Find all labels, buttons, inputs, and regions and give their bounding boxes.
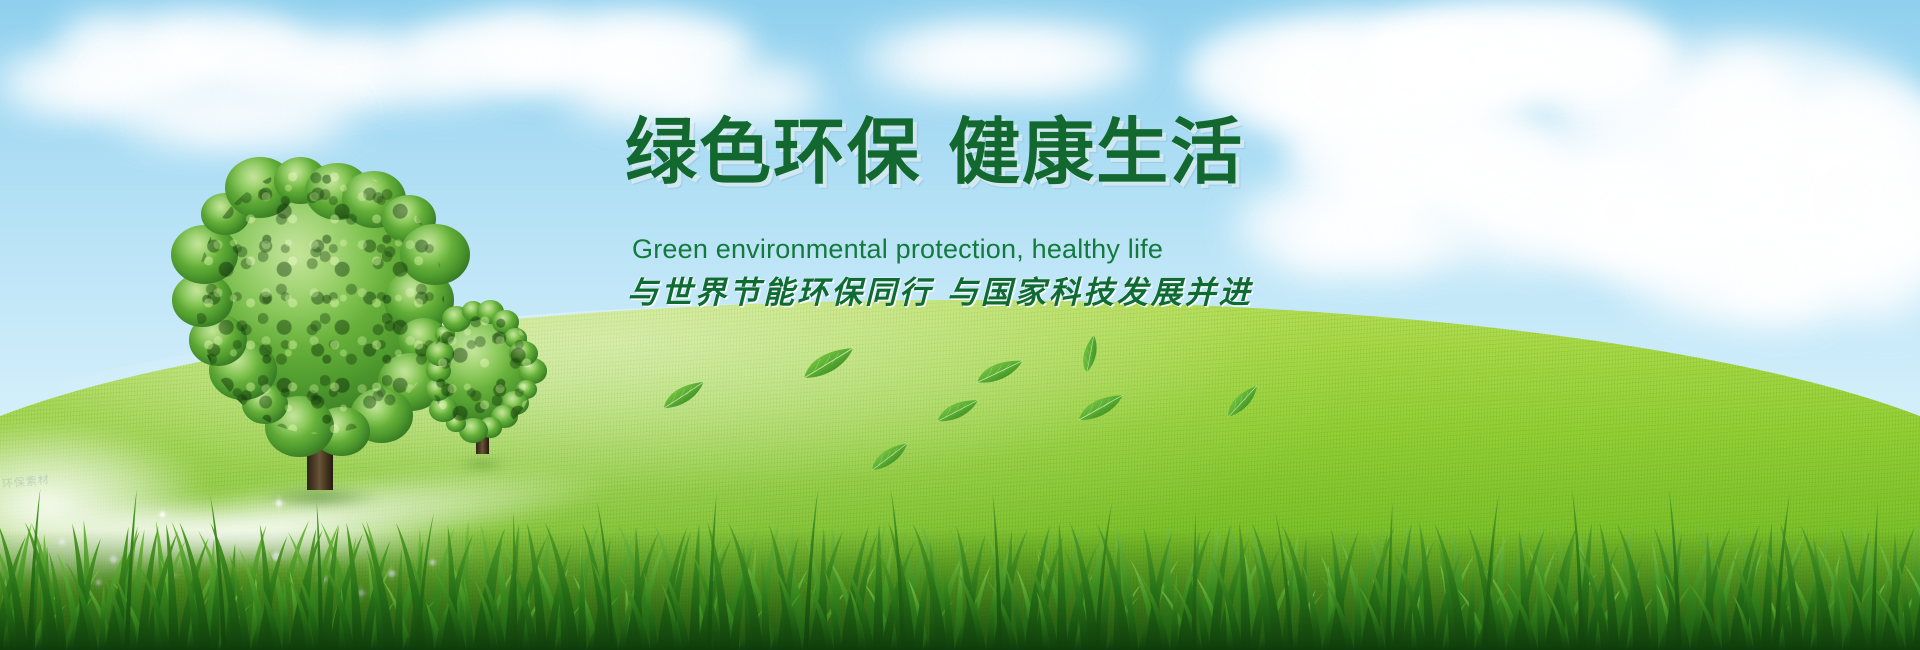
large-tree-foliage-highlight (196, 166, 444, 434)
small-tree (430, 310, 534, 468)
cloud-4-lobe-4 (726, 72, 820, 119)
grass-blades-icon (0, 470, 1920, 650)
cloud-13-lobe-4 (1364, 221, 1480, 269)
grass-blade (1761, 522, 1773, 650)
cloud-14-lobe-4 (997, 35, 1140, 87)
grass-blade (689, 524, 700, 650)
large-tree (196, 166, 444, 504)
eco-banner: 绿色环保 健康生活 Green environmental protection… (0, 0, 1920, 650)
small-tree-foliage-highlight (430, 310, 534, 432)
cloud-5-lobe-4 (255, 103, 350, 135)
foreground-grass (0, 470, 1920, 650)
